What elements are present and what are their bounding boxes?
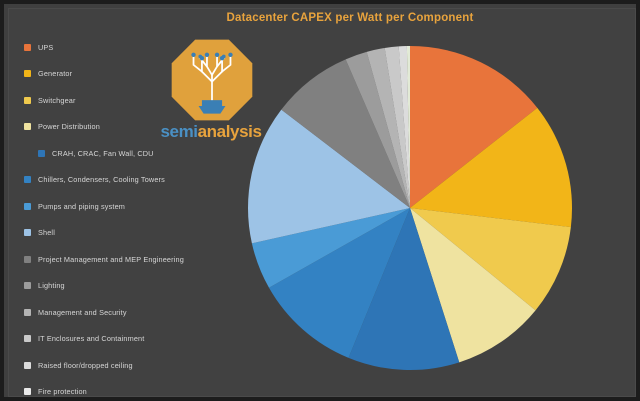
legend-item-label: Generator <box>38 69 72 78</box>
legend-item[interactable]: Fire protection <box>24 379 244 401</box>
legend-item-label: Management and Security <box>38 308 127 317</box>
legend-item-label: Project Management and MEP Engineering <box>38 255 184 264</box>
legend-swatch-icon <box>24 70 31 77</box>
legend-swatch-icon <box>24 203 31 210</box>
chart-legend: UPSGeneratorSwitchgearPower Distribution… <box>24 34 244 401</box>
legend-item[interactable]: Pumps and piping system <box>24 193 244 220</box>
slide-canvas: Datacenter CAPEX per Watt per Component … <box>0 0 640 401</box>
legend-item[interactable]: Power Distribution <box>24 114 244 141</box>
legend-item-label: Pumps and piping system <box>38 202 125 211</box>
page-title: Datacenter CAPEX per Watt per Component <box>4 12 636 24</box>
legend-item-label: IT Enclosures and Containment <box>38 334 144 343</box>
legend-item[interactable]: UPS <box>24 34 244 61</box>
legend-item-label: CRAH, CRAC, Fan Wall, CDU <box>52 149 154 158</box>
legend-swatch-icon <box>24 44 31 51</box>
legend-item[interactable]: Lighting <box>24 273 244 300</box>
legend-item[interactable]: Chillers, Condensers, Cooling Towers <box>24 167 244 194</box>
legend-item-label: Raised floor/dropped ceiling <box>38 361 133 370</box>
legend-swatch-icon <box>24 229 31 236</box>
legend-swatch-icon <box>24 362 31 369</box>
legend-item-label: Fire protection <box>38 387 87 396</box>
legend-swatch-icon <box>24 123 31 130</box>
legend-item[interactable]: Project Management and MEP Engineering <box>24 246 244 273</box>
legend-item[interactable]: Shell <box>24 220 244 247</box>
legend-item-label: Switchgear <box>38 96 76 105</box>
legend-item[interactable]: CRAH, CRAC, Fan Wall, CDU <box>24 140 244 167</box>
legend-item-label: UPS <box>38 43 53 52</box>
legend-swatch-icon <box>24 97 31 104</box>
legend-swatch-icon <box>24 335 31 342</box>
legend-swatch-icon <box>24 282 31 289</box>
legend-item[interactable]: Management and Security <box>24 299 244 326</box>
legend-swatch-icon <box>24 256 31 263</box>
legend-item[interactable]: Generator <box>24 61 244 88</box>
legend-swatch-icon <box>38 150 45 157</box>
legend-item[interactable]: Raised floor/dropped ceiling <box>24 352 244 379</box>
legend-item-label: Lighting <box>38 281 65 290</box>
legend-swatch-icon <box>24 176 31 183</box>
pie-chart-svg <box>247 45 573 371</box>
legend-swatch-icon <box>24 309 31 316</box>
legend-item[interactable]: IT Enclosures and Containment <box>24 326 244 353</box>
legend-item[interactable]: Switchgear <box>24 87 244 114</box>
legend-item-label: Chillers, Condensers, Cooling Towers <box>38 175 165 184</box>
pie-chart <box>247 45 573 371</box>
legend-item-label: Shell <box>38 228 55 237</box>
legend-swatch-icon <box>24 388 31 395</box>
legend-item-label: Power Distribution <box>38 122 100 131</box>
